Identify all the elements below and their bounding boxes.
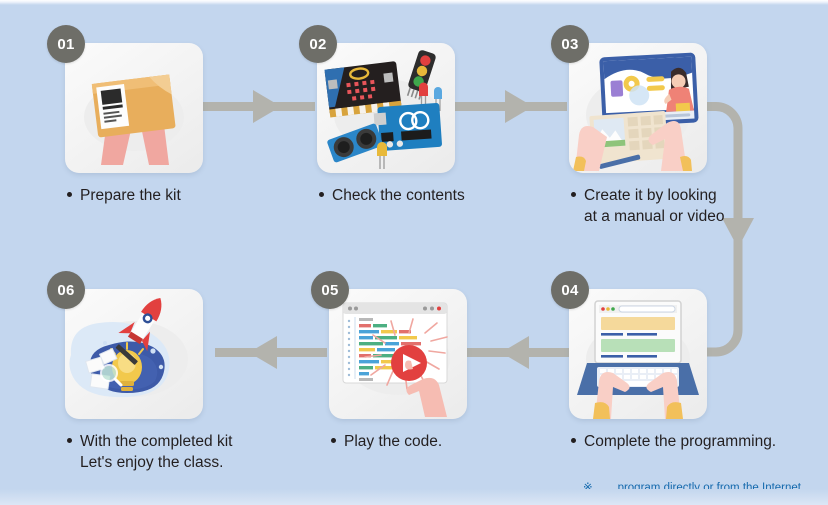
- bullet-icon: [67, 438, 72, 443]
- step-06-caption: With the completed kit Let's enjoy the c…: [67, 431, 297, 473]
- rocket-idea-bulb-illustration: [65, 289, 203, 419]
- step-06-caption-line1: With the completed kit: [80, 433, 232, 450]
- step-04-card: [569, 289, 707, 419]
- code-window-play-button-illustration: [329, 289, 467, 419]
- arrow-step4-to-step5: [467, 336, 579, 369]
- step-02-badge: 02: [299, 25, 337, 63]
- laptop-coding-hands-illustration: [569, 289, 707, 419]
- step-04-caption-line1: Complete the programming.: [584, 433, 776, 450]
- step-03-caption-line1: Create it by looking: [584, 187, 717, 204]
- step-05-badge: 05: [311, 271, 349, 309]
- arrow-step3-to-step4: [700, 107, 754, 353]
- infographic-canvas: 01 Prepare the kit: [0, 0, 828, 505]
- step-02-card: [317, 43, 455, 173]
- step-04-badge: 04: [551, 271, 589, 309]
- reference-mark-icon: ※: [583, 481, 593, 496]
- arrow-step2-to-step3: [455, 90, 567, 123]
- step-01-caption: Prepare the kit: [67, 185, 297, 206]
- step-04-caption: Complete the programming.: [571, 431, 801, 452]
- arrow-step5-to-step6: [215, 336, 327, 369]
- step-06-caption-line2: Let's enjoy the class.: [80, 452, 297, 473]
- step-05-caption: Play the code.: [331, 431, 561, 452]
- step-02-caption-line1: Check the contents: [332, 187, 465, 204]
- package-in-hands-illustration: [65, 43, 203, 173]
- step-04-subnote-line1: program directly or from the Internet: [618, 482, 801, 494]
- step-03-card: [569, 43, 707, 173]
- bullet-icon: [571, 192, 576, 197]
- step-01-caption-line1: Prepare the kit: [80, 187, 181, 204]
- step-02-caption: Check the contents: [319, 185, 549, 206]
- electronics-components-illustration: [317, 43, 455, 173]
- step-04-subnote: ※ program directly or from the Internet …: [583, 481, 801, 505]
- bullet-icon: [571, 438, 576, 443]
- step-04-subnote-line2: Download the code.: [699, 497, 801, 505]
- step-06-badge: 06: [47, 271, 85, 309]
- step-06-card: [65, 289, 203, 419]
- step-03-caption-line2: at a manual or video: [584, 206, 801, 227]
- bullet-icon: [319, 192, 324, 197]
- step-03-badge: 03: [551, 25, 589, 63]
- step-05-card: [329, 289, 467, 419]
- bullet-icon: [331, 438, 336, 443]
- tablet-video-tutorial-illustration: [569, 43, 707, 173]
- bullet-icon: [67, 192, 72, 197]
- step-05-caption-line1: Play the code.: [344, 433, 442, 450]
- step-01-card: [65, 43, 203, 173]
- step-03-caption: Create it by looking at a manual or vide…: [571, 185, 801, 227]
- step-01-badge: 01: [47, 25, 85, 63]
- arrow-step1-to-step2: [203, 90, 315, 123]
